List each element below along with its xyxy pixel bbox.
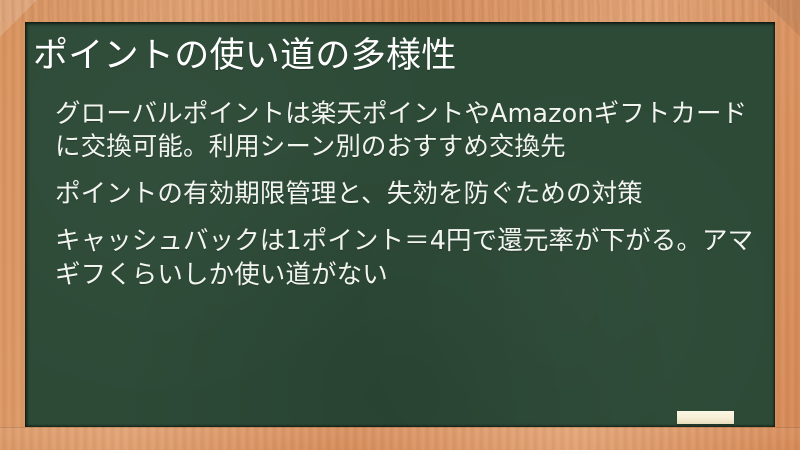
wood-frame-top-grain: [0, 0, 800, 22]
wood-frame-bottom-ledge: [0, 427, 800, 450]
list-item: キャッシュバックは1ポイント＝4円で還元率が下がる。アマギフくらいしか使い道がな…: [55, 225, 755, 291]
chalkboard-surface: ポイントの使い道の多様性 グローバルポイントは楽天ポイントやAmazonギフトカ…: [25, 22, 775, 427]
list-item: ポイントの有効期限管理と、失効を防ぐための対策: [55, 178, 755, 211]
chalk-piece: [677, 411, 734, 424]
slide-bullet-list: グローバルポイントは楽天ポイントやAmazonギフトカードに交換可能。利用シーン…: [55, 98, 755, 292]
chalkboard-slide: ポイントの使い道の多様性 グローバルポイントは楽天ポイントやAmazonギフトカ…: [0, 0, 800, 450]
list-item: グローバルポイントは楽天ポイントやAmazonギフトカードに交換可能。利用シーン…: [55, 98, 755, 164]
slide-title: ポイントの使い道の多様性: [33, 36, 763, 77]
